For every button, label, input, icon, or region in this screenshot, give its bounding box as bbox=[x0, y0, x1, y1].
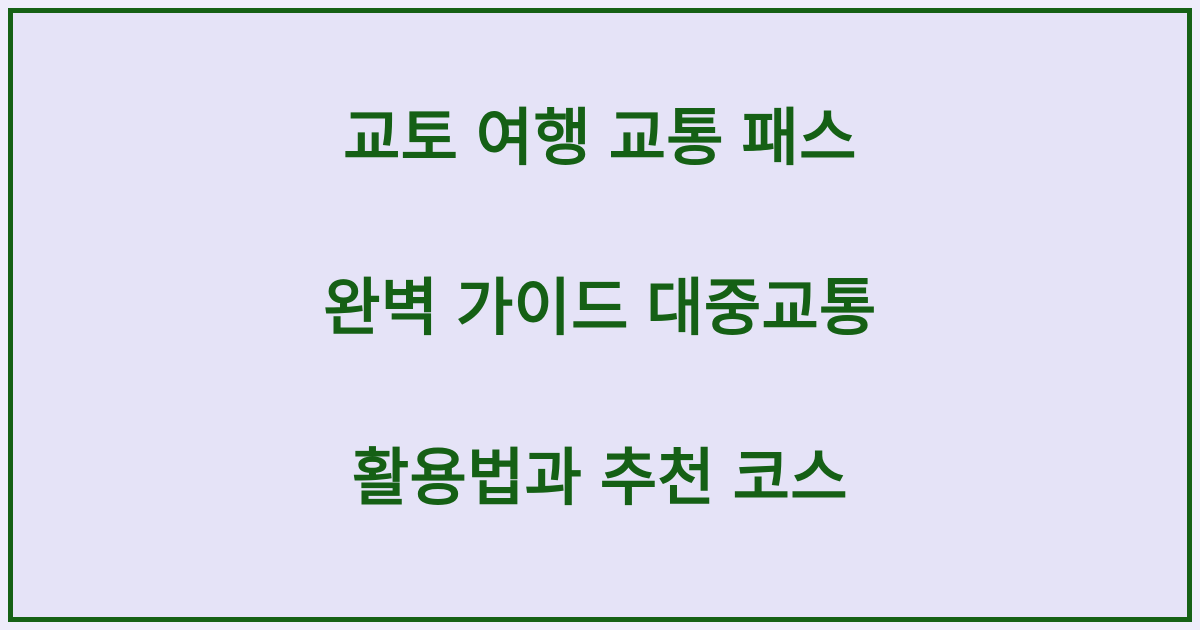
page-title-line-1: 교토 여행 교통 패스 bbox=[73, 96, 1127, 181]
og-card-canvas: 교토 여행 교통 패스 완벽 가이드 대중교통 활용법과 추천 코스 bbox=[0, 0, 1200, 630]
page-title-line-3: 활용법과 추천 코스 bbox=[73, 436, 1127, 521]
green-bordered-card: 교토 여행 교통 패스 완벽 가이드 대중교통 활용법과 추천 코스 bbox=[8, 8, 1192, 622]
page-title-line-2: 완벽 가이드 대중교통 bbox=[73, 266, 1127, 351]
page-title: 교토 여행 교통 패스 완벽 가이드 대중교통 활용법과 추천 코스 bbox=[13, 11, 1187, 606]
